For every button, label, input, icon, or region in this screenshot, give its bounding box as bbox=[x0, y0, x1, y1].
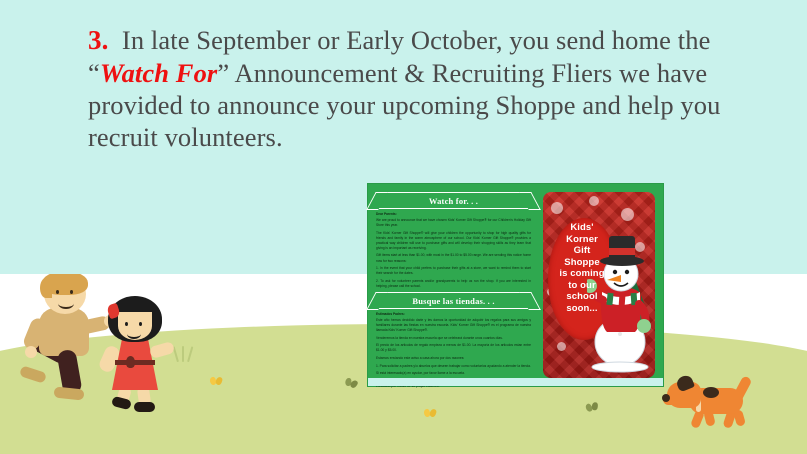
card-message: Kids' Korner Gift Shoppe is coming to ou… bbox=[545, 222, 619, 315]
card-line: is coming bbox=[545, 268, 619, 280]
snowflake-icon bbox=[589, 196, 599, 206]
running-girl-illustration bbox=[96, 294, 182, 406]
spanish-paragraph: Este año hemos decidido darle y les damo… bbox=[376, 318, 531, 333]
slide-canvas: 3. In late September or Early October, y… bbox=[0, 0, 807, 454]
snowflake-icon bbox=[551, 202, 563, 214]
flyer-english-body: Dear Parents: We are proud to announce t… bbox=[376, 212, 531, 289]
card-line: Kids' bbox=[545, 222, 619, 234]
busque-las-tiendas-banner: Busque las tiendas. . . bbox=[376, 292, 531, 309]
spanish-paragraph: 1. Para solicitar a padres y/o abuelos q… bbox=[376, 364, 531, 369]
busque-banner-label: Busque las tiendas. . . bbox=[412, 296, 494, 306]
watch-for-banner: Watch for. . . bbox=[376, 192, 531, 209]
snowman-card: Kids' Korner Gift Shoppe is coming to ou… bbox=[543, 192, 655, 378]
spanish-paragraph: Estamos enviando este aviso a casa ahora… bbox=[376, 356, 531, 361]
butterfly-icon bbox=[210, 377, 222, 386]
spanish-salutation: Estimados Padres: bbox=[376, 312, 531, 317]
english-paragraph: The Kids' Korner Gift Shoppe® will give … bbox=[376, 231, 531, 251]
butterfly-icon bbox=[424, 409, 436, 418]
english-paragraph: Gift items start at less than $1.00, wit… bbox=[376, 253, 531, 263]
card-line: to our bbox=[545, 280, 619, 292]
grass-tuft bbox=[182, 346, 184, 362]
card-line: Gift bbox=[545, 245, 619, 257]
watch-for-emphasis: Watch For bbox=[100, 58, 217, 88]
flyer-footer-strip bbox=[368, 378, 663, 386]
flyer-text-panel: Watch for. . . Dear Parents: We are prou… bbox=[376, 190, 531, 380]
watch-for-banner-label: Watch for. . . bbox=[429, 196, 478, 206]
english-paragraph: We are proud to announce that we have ch… bbox=[376, 218, 531, 228]
list-number: 3. bbox=[88, 25, 108, 55]
english-paragraph: 2. To ask for volunteer parents and/or g… bbox=[376, 279, 531, 289]
card-line: school bbox=[545, 291, 619, 303]
spanish-paragraph: Si está interesado(a) en ayudar, por fav… bbox=[376, 371, 531, 376]
card-line: soon... bbox=[545, 303, 619, 315]
slide-body-text: 3. In late September or Early October, y… bbox=[88, 24, 768, 153]
snowflake-icon bbox=[557, 342, 566, 351]
spanish-paragraph: El precio de los articulos de regalo emp… bbox=[376, 343, 531, 353]
english-salutation: Dear Parents: bbox=[376, 212, 531, 217]
running-dog-illustration bbox=[663, 374, 767, 432]
spanish-paragraph: Venderemos la tienda en nuestra escuela … bbox=[376, 336, 531, 341]
flyer-image: Watch for. . . Dear Parents: We are prou… bbox=[368, 184, 663, 386]
card-line: Shoppe bbox=[545, 257, 619, 269]
snowflake-icon bbox=[621, 208, 634, 221]
english-paragraph: 1. In the event that your child prefers … bbox=[376, 266, 531, 276]
card-line: Korner bbox=[545, 234, 619, 246]
